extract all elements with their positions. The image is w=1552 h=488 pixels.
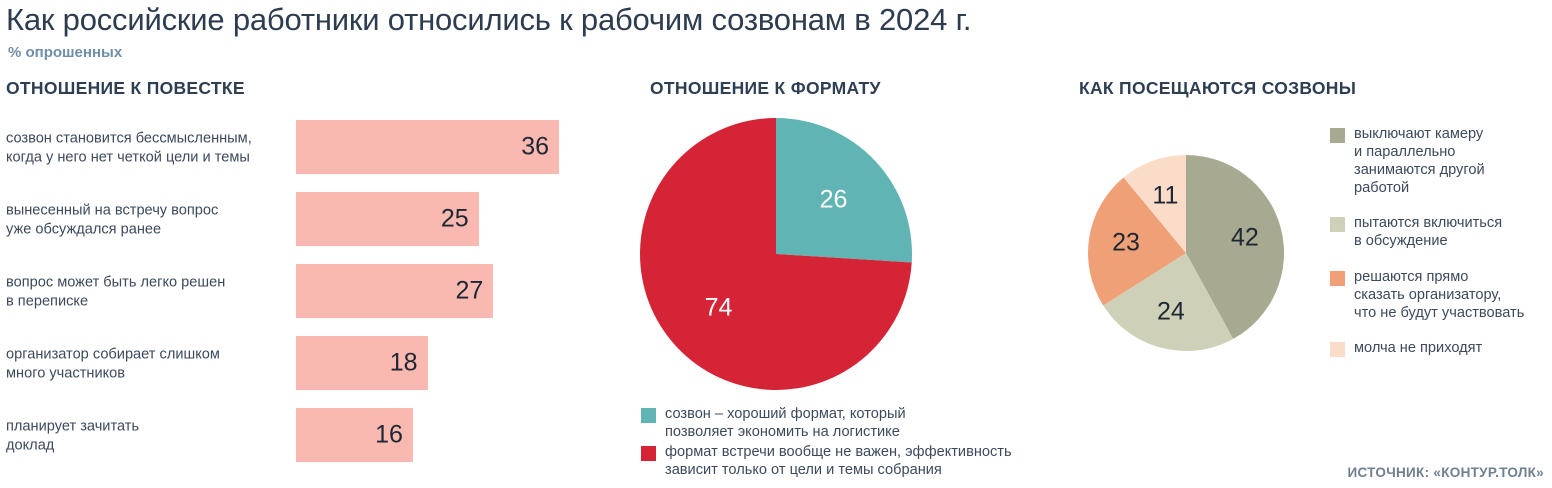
bar-category-label: вынесенный на встречу вопрос уже обсужда… [6, 201, 296, 238]
pie-chart-attendance: 42242311 [1088, 155, 1284, 351]
bar-value-label: 27 [455, 277, 483, 306]
legend-format-item[interactable]: созвон – хороший формат, который позволя… [641, 405, 1071, 441]
pie-format-slice [776, 118, 912, 263]
section-heading-agenda: ОТНОШЕНИЕ К ПОВЕСТКЕ [6, 78, 245, 99]
legend-swatch-icon [1330, 342, 1345, 357]
legend-attendance: выключают камеру и параллельно занимаютс… [1330, 125, 1552, 374]
legend-attendance-item[interactable]: решаются прямо сказать организатору, что… [1330, 268, 1552, 322]
bar-value-label: 16 [375, 421, 403, 450]
source-attribution: ИСТОЧНИК: «КОНТУР.ТОЛК» [1347, 465, 1544, 480]
legend-format-item[interactable]: формат встречи вообще не важен, эффектив… [641, 443, 1071, 479]
legend-swatch-icon [641, 446, 656, 461]
legend-swatch-icon [1330, 128, 1345, 143]
bar-track: 16 [296, 408, 559, 462]
bar-row: вопрос может быть легко решен в переписк… [0, 256, 600, 328]
bar-row: организатор собирает слишком много участ… [0, 328, 600, 400]
bar-fill: 36 [296, 120, 559, 174]
bar-row: вынесенный на встречу вопрос уже обсужда… [0, 184, 600, 256]
bar-track: 36 [296, 120, 559, 174]
legend-label: созвон – хороший формат, который позволя… [665, 405, 906, 441]
page-title: Как российские работники относились к ра… [6, 2, 971, 38]
bar-row: планирует зачитать доклад16 [0, 400, 600, 472]
page-subtitle: % опрошенных [8, 44, 122, 61]
bar-category-label: вопрос может быть легко решен в переписк… [6, 273, 296, 310]
legend-swatch-icon [641, 408, 656, 423]
legend-label: решаются прямо сказать организатору, что… [1354, 268, 1524, 322]
bar-fill: 18 [296, 336, 428, 390]
bar-row: созвон становится бессмысленным, когда у… [0, 112, 600, 184]
legend-swatch-icon [1330, 217, 1345, 232]
bar-value-label: 36 [521, 133, 549, 162]
legend-label: выключают камеру и параллельно занимаютс… [1354, 125, 1485, 197]
section-heading-attendance: КАК ПОСЕЩАЮТСЯ СОЗВОНЫ [1079, 78, 1356, 99]
legend-attendance-item[interactable]: молча не приходят [1330, 339, 1552, 357]
legend-label: пытаются включиться в обсуждение [1354, 214, 1502, 250]
bar-fill: 27 [296, 264, 493, 318]
legend-label: молча не приходят [1354, 339, 1482, 357]
legend-attendance-item[interactable]: выключают камеру и параллельно занимаютс… [1330, 125, 1552, 197]
legend-format: созвон – хороший формат, который позволя… [641, 405, 1071, 481]
bar-chart-agenda: созвон становится бессмысленным, когда у… [0, 112, 600, 472]
legend-attendance-item[interactable]: пытаются включиться в обсуждение [1330, 214, 1552, 250]
bar-category-label: созвон становится бессмысленным, когда у… [6, 129, 296, 166]
legend-label: формат встречи вообще не важен, эффектив… [665, 443, 1012, 479]
bar-track: 25 [296, 192, 559, 246]
bar-value-label: 18 [390, 349, 418, 378]
bar-track: 18 [296, 336, 559, 390]
bar-fill: 25 [296, 192, 479, 246]
bar-category-label: организатор собирает слишком много участ… [6, 345, 296, 382]
bar-category-label: планирует зачитать доклад [6, 417, 296, 454]
pie-chart-format: 2674 [640, 118, 912, 390]
bar-value-label: 25 [441, 205, 469, 234]
bar-fill: 16 [296, 408, 413, 462]
bar-track: 27 [296, 264, 559, 318]
legend-swatch-icon [1330, 271, 1345, 286]
section-heading-format: ОТНОШЕНИЕ К ФОРМАТУ [650, 78, 881, 99]
